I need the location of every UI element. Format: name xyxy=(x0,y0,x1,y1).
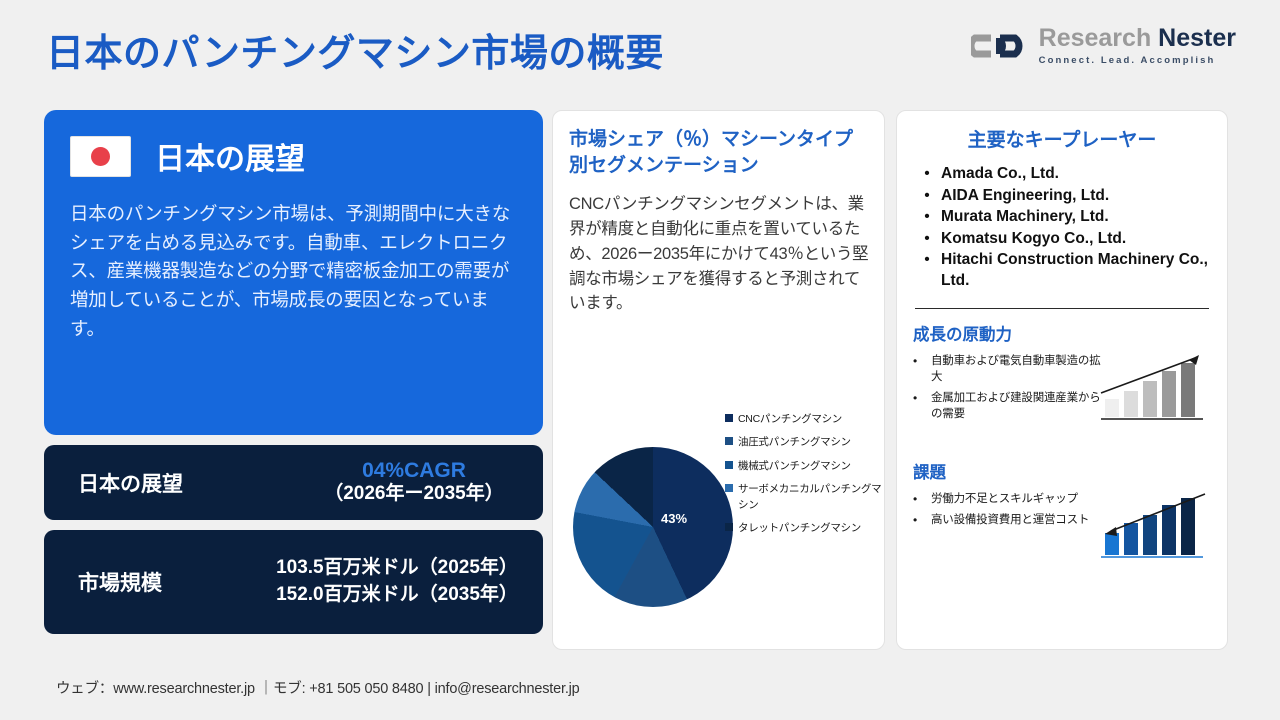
bullet-icon: • xyxy=(913,353,931,385)
challenges-trend-chart-icon xyxy=(1099,491,1209,563)
market-size-label: 市場規模 xyxy=(78,567,162,597)
key-player-item: •Komatsu Kogyo Co., Ltd. xyxy=(913,229,1211,250)
challenges-list: •労働力不足とスキルギャップ•高い設備投資費用と運営コスト xyxy=(913,491,1101,530)
legend-item: サーボメカニカルパンチングマシン xyxy=(725,481,885,514)
growth-driver-item: •金属加工および建設関連産業からの需要 xyxy=(913,390,1101,422)
page-title: 日本のパンチングマシン市場の概要 xyxy=(46,22,664,77)
bullet-icon: • xyxy=(913,164,941,185)
market-size-stat-card: 市場規模 103.5百万米ドル（2025年） 152.0百万米ドル（2035年） xyxy=(44,530,543,634)
legend-label: タレットパンチングマシン xyxy=(738,520,861,536)
key-players-title: 主要なキープレーヤー xyxy=(913,125,1211,152)
legend-label: 油圧式パンチングマシン xyxy=(738,434,851,450)
key-player-label: Murata Machinery, Ltd. xyxy=(941,207,1109,228)
legend-label: CNCパンチングマシン xyxy=(738,411,842,427)
market-size-2035: 152.0百万米ドル（2035年） xyxy=(262,585,532,606)
growth-drivers-list: •自動車および電気自動車製造の拡大•金属加工および建設関連産業からの需要 xyxy=(913,353,1101,422)
legend-label: 機械式パンチングマシン xyxy=(738,458,851,474)
research-nester-logo-icon xyxy=(971,26,1029,66)
bullet-icon: • xyxy=(913,229,941,250)
key-player-item: •Murata Machinery, Ltd. xyxy=(913,207,1211,228)
bullet-icon: • xyxy=(913,512,931,529)
japan-flag-icon xyxy=(70,136,131,177)
growth-driver-label: 金属加工および建設関連産業からの需要 xyxy=(931,390,1101,422)
legend-label: サーボメカニカルパンチングマシン xyxy=(738,481,885,514)
cagr-card-values: 04%CAGR （2026年ー2035年） xyxy=(299,459,529,506)
bullet-icon: • xyxy=(913,491,931,508)
pie-chart-legend: CNCパンチングマシン油圧式パンチングマシン機械式パンチングマシンサーボメカニカ… xyxy=(725,411,885,544)
pie-chart: 43% xyxy=(573,447,733,607)
bullet-icon: • xyxy=(913,390,931,422)
bullet-icon: • xyxy=(913,250,941,291)
legend-swatch-icon xyxy=(725,437,733,445)
challenge-item: •労働力不足とスキルギャップ xyxy=(913,491,1101,508)
section-divider xyxy=(915,308,1209,309)
logo-name-nester: Nester xyxy=(1158,24,1236,52)
bullet-icon: • xyxy=(913,207,941,228)
challenge-label: 労働力不足とスキルギャップ xyxy=(931,491,1078,508)
challenge-label: 高い設備投資費用と運営コスト xyxy=(931,512,1089,529)
legend-item: 機械式パンチングマシン xyxy=(725,458,885,474)
japan-outlook-panel: 日本の展望 日本のパンチングマシン市場は、予測期間中に大きなシェアを占める見込み… xyxy=(44,110,543,435)
growth-driver-item: •自動車および電気自動車製造の拡大 xyxy=(913,353,1101,385)
brand-logo: Research Nester Connect. Lead. Accomplis… xyxy=(971,26,1236,66)
pie-data-label-cnc: 43% xyxy=(661,511,687,526)
outlook-body-text: 日本のパンチングマシン市場は、予測期間中に大きなシェアを占める見込みです。自動車… xyxy=(70,200,517,343)
key-player-item: •AIDA Engineering, Ltd. xyxy=(913,186,1211,207)
challenges-title: 課題 xyxy=(913,459,1211,483)
challenges-block: •労働力不足とスキルギャップ•高い設備投資費用と運営コスト xyxy=(913,491,1211,579)
logo-name-research: Research xyxy=(1039,24,1159,52)
key-player-item: •Amada Co., Ltd. xyxy=(913,164,1211,185)
legend-item: 油圧式パンチングマシン xyxy=(725,434,885,450)
left-column: 日本の展望 日本のパンチングマシン市場は、予測期間中に大きなシェアを占める見込み… xyxy=(44,110,543,634)
cagr-period: （2026年ー2035年） xyxy=(299,483,529,506)
legend-item: タレットパンチングマシン xyxy=(725,520,885,536)
challenge-item: •高い設備投資費用と運営コスト xyxy=(913,512,1101,529)
growth-drivers-block: •自動車および電気自動車製造の拡大•金属加工および建設関連産業からの需要 xyxy=(913,353,1211,441)
footer-contact: ウェブ：www.researchnester.jp ｜モブ: +81 505 0… xyxy=(56,677,580,698)
slide-root: 日本のパンチングマシン市場の概要 Research Nester Connect… xyxy=(0,0,1280,720)
legend-swatch-icon xyxy=(725,484,733,492)
key-player-label: Komatsu Kogyo Co., Ltd. xyxy=(941,229,1126,250)
growth-trend-chart-icon xyxy=(1099,353,1209,425)
cagr-stat-card: 日本の展望 04%CAGR （2026年ー2035年） xyxy=(44,445,543,520)
key-player-label: AIDA Engineering, Ltd. xyxy=(941,186,1109,207)
logo-wordmark: Research Nester Connect. Lead. Accomplis… xyxy=(1039,26,1236,66)
growth-drivers-title: 成長の原動力 xyxy=(913,321,1211,345)
growth-driver-label: 自動車および電気自動車製造の拡大 xyxy=(931,353,1101,385)
key-players-list: •Amada Co., Ltd.•AIDA Engineering, Ltd.•… xyxy=(913,164,1211,292)
bullet-icon: • xyxy=(913,186,941,207)
outlook-title: 日本の展望 xyxy=(155,134,305,178)
logo-tagline: Connect. Lead. Accomplish xyxy=(1039,56,1236,66)
market-size-values: 103.5百万米ドル（2025年） 152.0百万米ドル（2035年） xyxy=(262,552,532,612)
slide-header: 日本のパンチングマシン市場の概要 Research Nester Connect… xyxy=(0,0,1280,96)
legend-swatch-icon xyxy=(725,523,733,531)
key-info-panel: 主要なキープレーヤー •Amada Co., Ltd.•AIDA Enginee… xyxy=(896,110,1228,650)
legend-swatch-icon xyxy=(725,414,733,422)
market-share-panel: 市場シェア（％）マシーンタイプ別セグメンテーション CNCパンチングマシンセグメ… xyxy=(552,110,885,650)
key-player-item: •Hitachi Construction Machinery Co., Ltd… xyxy=(913,250,1211,291)
key-player-label: Hitachi Construction Machinery Co., Ltd. xyxy=(941,250,1211,291)
legend-item: CNCパンチングマシン xyxy=(725,411,885,427)
cagr-value: 04%CAGR xyxy=(299,459,529,483)
market-share-body-text: CNCパンチングマシンセグメントは、業界が精度と自動化に重点を置いているため、2… xyxy=(569,192,870,316)
legend-swatch-icon xyxy=(725,461,733,469)
pie-chart-disc xyxy=(573,447,733,607)
outlook-header: 日本の展望 xyxy=(70,134,517,178)
pie-chart-area: 43% CNCパンチングマシン油圧式パンチングマシン機械式パンチングマシンサーボ… xyxy=(561,411,885,649)
market-size-2025: 103.5百万米ドル（2025年） xyxy=(262,558,532,579)
cagr-card-label: 日本の展望 xyxy=(78,468,183,498)
market-share-title: 市場シェア（％）マシーンタイプ別セグメンテーション xyxy=(569,127,870,178)
key-player-label: Amada Co., Ltd. xyxy=(941,164,1059,185)
